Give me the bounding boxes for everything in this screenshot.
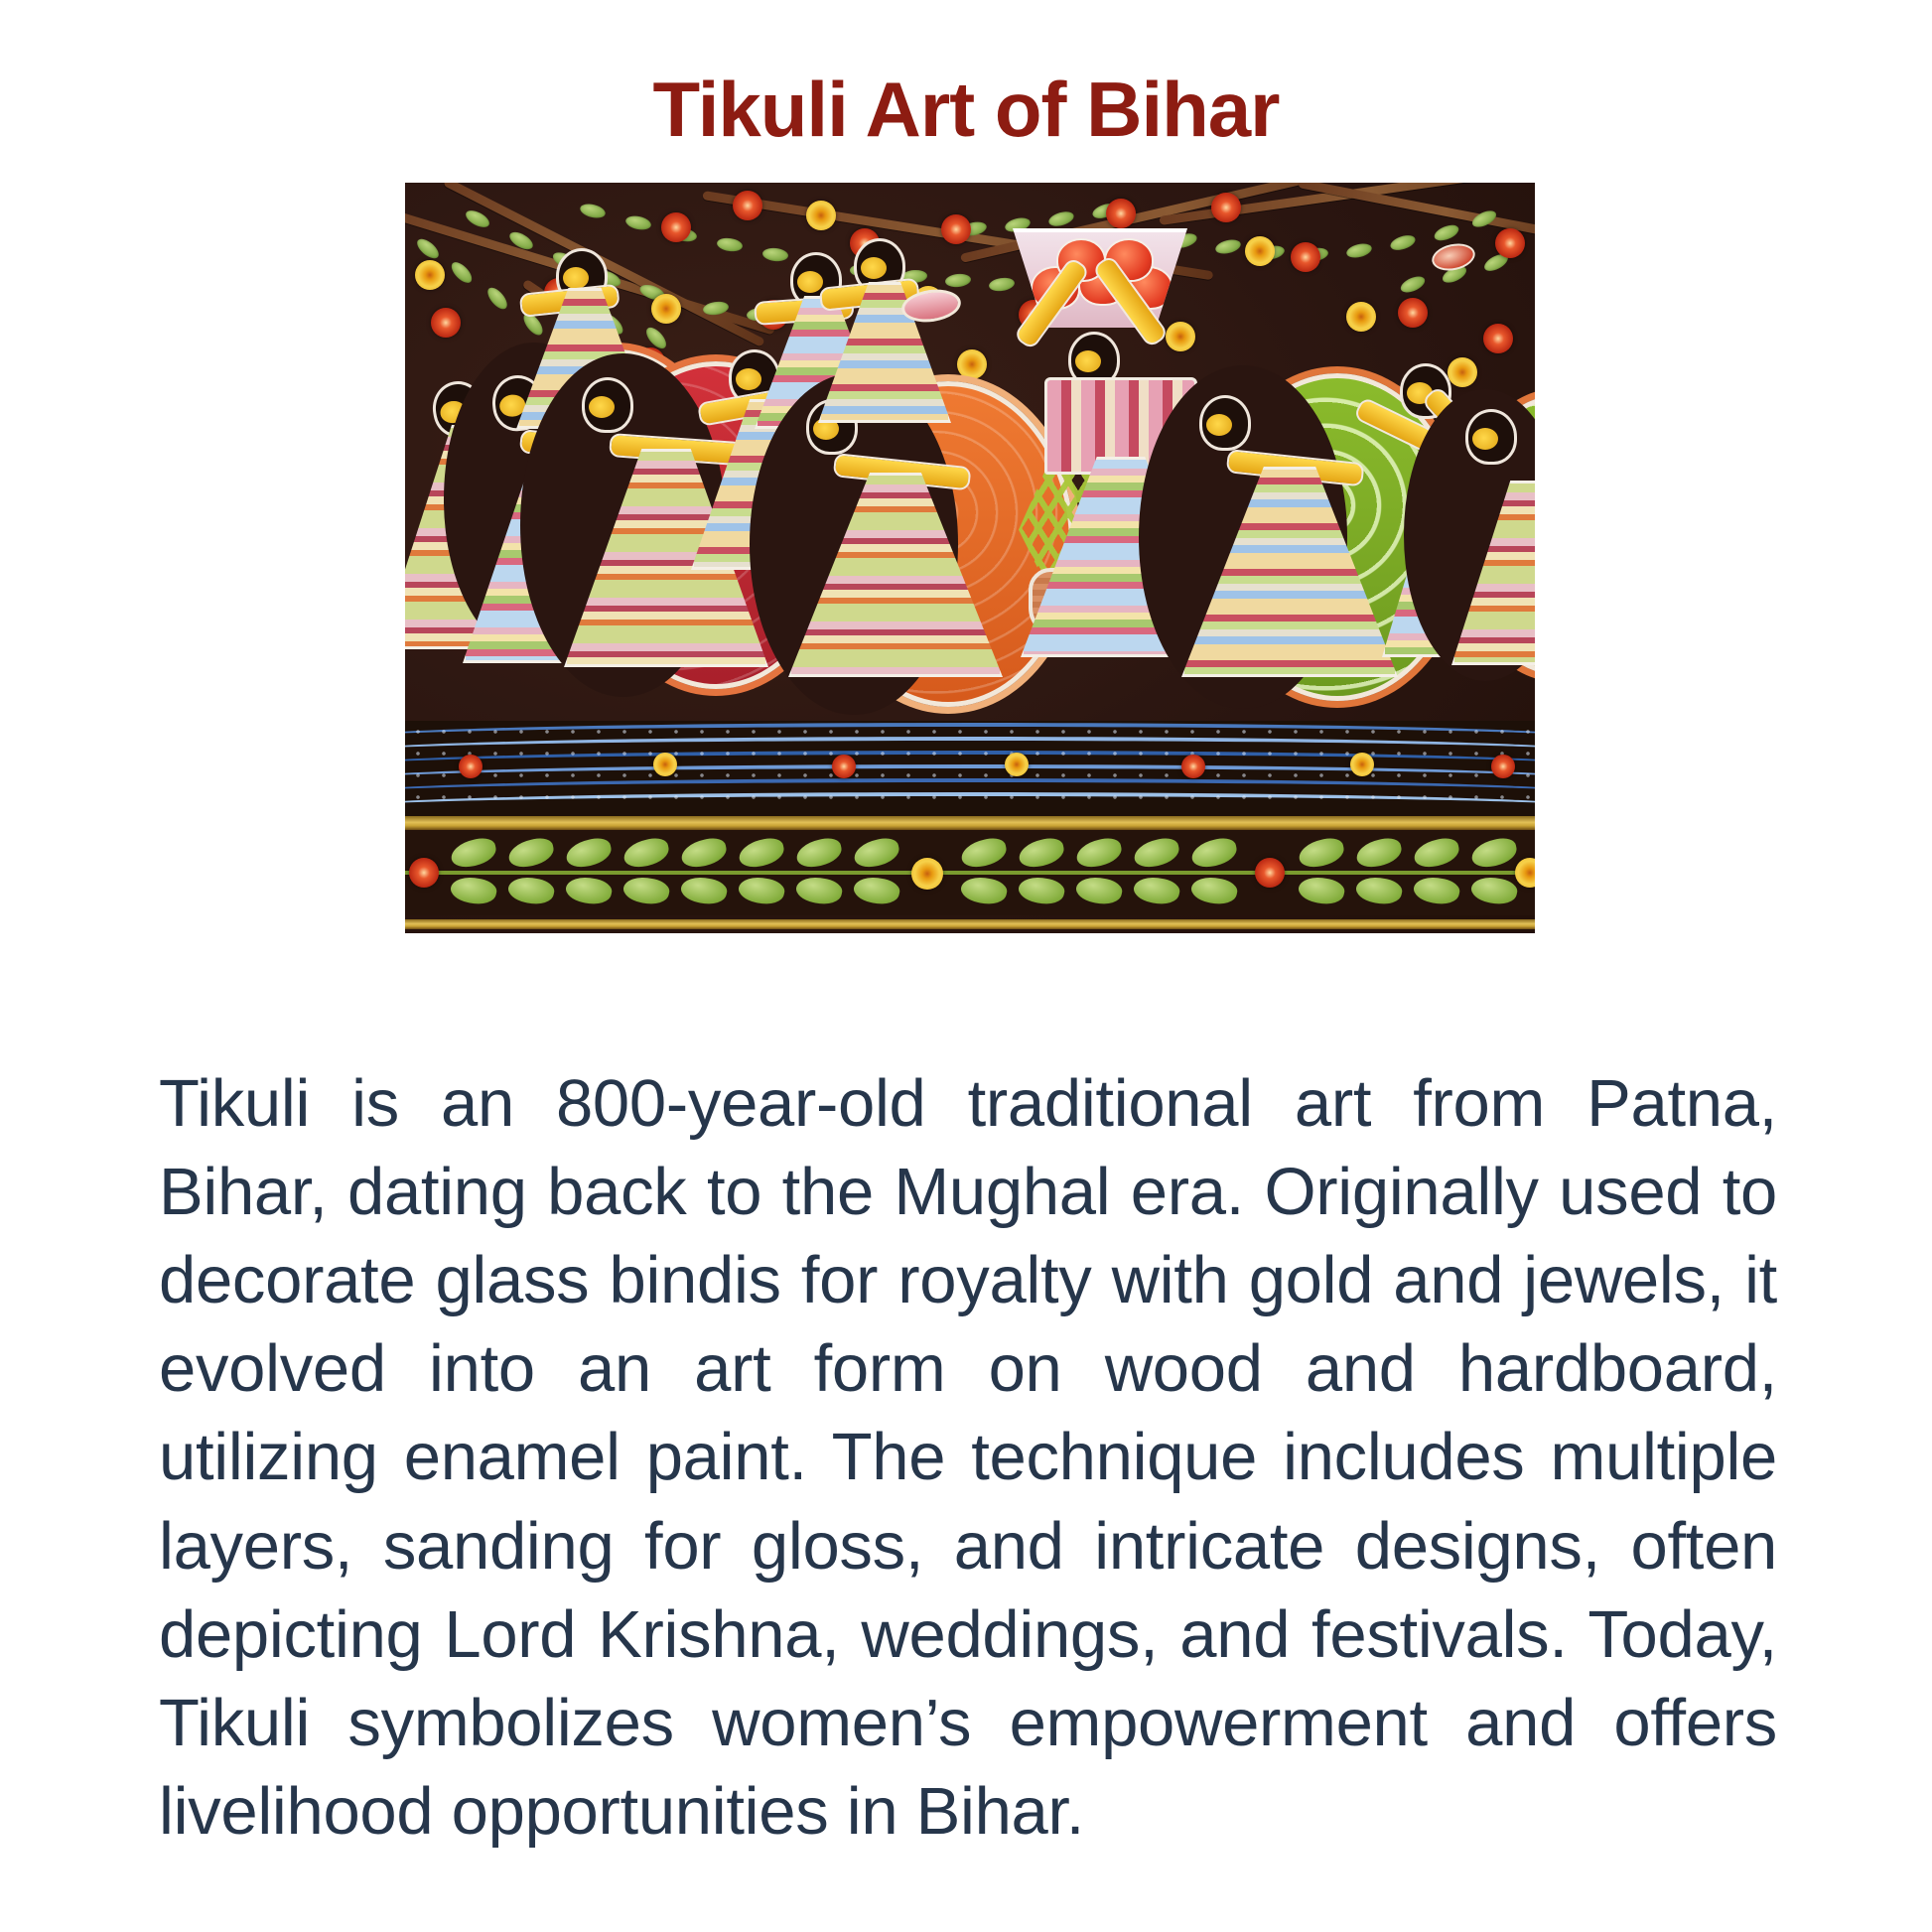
page-title: Tikuli Art of Bihar	[0, 68, 1932, 153]
artwork-canvas	[405, 183, 1535, 933]
gold-divider-lower	[405, 919, 1535, 929]
description-paragraph: Tikuli is an 800-year-old traditional ar…	[159, 1059, 1777, 1856]
gold-divider-upper	[405, 816, 1535, 830]
river-band	[405, 721, 1535, 816]
leaf-border-bottom	[405, 830, 1535, 915]
tikuli-painting-image	[405, 183, 1535, 933]
page-root: Tikuli Art of Bihar	[0, 0, 1932, 1932]
